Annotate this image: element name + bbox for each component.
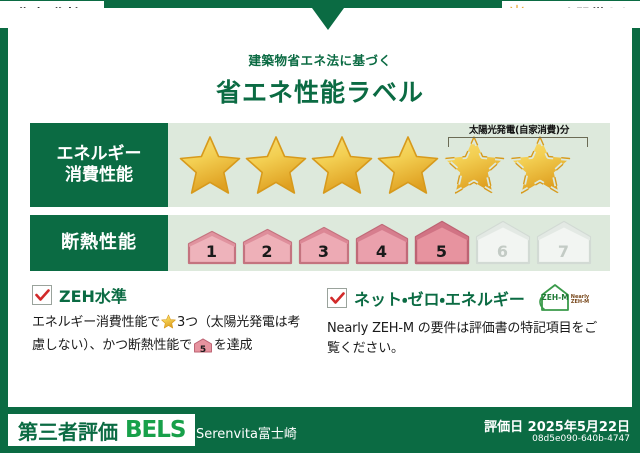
insulation-level-3: 3 xyxy=(297,226,351,266)
energy-performance-label-head: エネルギー 消費性能 xyxy=(30,123,168,207)
label-card: 建築物省エネ法に基づく 省エネ性能ラベル エネルギー 消費性能 xyxy=(8,8,632,407)
insulation-level-3-text: 3 xyxy=(297,242,351,261)
evaluation-id: 08d5e090-640b-4747 xyxy=(532,434,630,444)
bels-en-text: BELS xyxy=(125,417,185,443)
criterion-zeh-standard: ZEH水準 エネルギー消費性能で 3つ（太陽光発電は考慮しない）、かつ断熱性能で… xyxy=(32,283,313,360)
energy-label-line1: エネルギー xyxy=(57,144,142,165)
criterion-net-zero-energy: ネット・ゼロ・エネルギー ZEH-M Nearly ZEH-M Nearly Z… xyxy=(327,283,608,360)
net-zero-energy-body: Nearly ZEH-M の要件は評価書の特記項目をご覧ください。 xyxy=(327,319,608,359)
bels-jp-text: 第三者評価 xyxy=(18,416,118,445)
net-zero-energy-title: ネット・ゼロ・エネルギー xyxy=(354,286,525,310)
star-filled-3 xyxy=(310,134,374,196)
building-name: Serenvita富士崎 xyxy=(196,423,297,442)
page-title: 省エネ性能ラベル xyxy=(18,73,622,109)
zeh-standard-text-part3: を達成 xyxy=(214,338,252,353)
insulation-level-2: 2 xyxy=(241,228,294,266)
evaluation-date-label: 評価日 xyxy=(484,420,523,435)
insulation-level-2-text: 2 xyxy=(241,242,294,261)
bels-logo: 第三者評価 BELS xyxy=(8,414,195,446)
footer-band: 第三者評価 BELS Serenvita富士崎 評価日 2025年5月22日 0… xyxy=(0,407,640,453)
title-subtitle: 建築物省エネ法に基づく xyxy=(18,50,622,69)
insulation-performance-row: 断熱性能 1 xyxy=(30,215,610,271)
insulation-level-scale: 1 2 xyxy=(186,220,593,266)
net-zero-energy-checkbox xyxy=(327,288,347,308)
star-filled-2 xyxy=(244,134,308,196)
insulation-level-1-text: 1 xyxy=(186,242,238,261)
insulation-level-7: 7 xyxy=(535,220,593,266)
star-filled-4 xyxy=(376,134,440,196)
insulation-level-6-text: 6 xyxy=(474,242,532,261)
insulation-label-head: 断熱性能 xyxy=(30,215,168,271)
zeh-standard-text-part1: エネルギー消費性能で xyxy=(32,315,160,330)
energy-performance-label: 住宅(住棟) D 再エネ設備あり xyxy=(0,0,640,453)
insulation-level-6: 6 xyxy=(474,220,532,266)
insulation-level-4-text: 4 xyxy=(354,242,410,261)
inline-house-5-text: 5 xyxy=(193,344,213,358)
zeh-standard-title: ZEH水準 xyxy=(59,283,127,307)
insulation-level-7-text: 7 xyxy=(535,242,593,261)
insulation-scale-area: 1 2 xyxy=(168,215,610,271)
solar-contribution-note: 太陽光発電(自家消費)分 xyxy=(444,122,594,136)
solar-bracket xyxy=(448,137,588,147)
insulation-level-5: 5 xyxy=(413,220,471,266)
svg-text:ZEH-M: ZEH-M xyxy=(541,293,568,302)
zeh-m-badge-icon: ZEH-M Nearly ZEH-M xyxy=(536,283,594,313)
inline-house-5-icon: 5 xyxy=(193,338,213,360)
star-filled-1 xyxy=(178,134,242,196)
inline-star-icon xyxy=(161,318,176,333)
svg-text:ZEH-M: ZEH-M xyxy=(571,299,589,305)
energy-performance-row: エネルギー 消費性能 xyxy=(30,123,610,207)
energy-star-area: 太陽光発電(自家消費)分 xyxy=(168,123,610,207)
insulation-label-text: 断熱性能 xyxy=(61,232,137,255)
criteria-section: ZEH水準 エネルギー消費性能で 3つ（太陽光発電は考慮しない）、かつ断熱性能で… xyxy=(32,283,608,360)
zeh-standard-checkbox xyxy=(32,285,52,305)
zeh-standard-body: エネルギー消費性能で 3つ（太陽光発電は考慮しない）、かつ断熱性能で 5を達成 xyxy=(32,313,313,360)
evaluation-date: 評価日 2025年5月22日 xyxy=(484,416,630,435)
evaluation-date-value: 2025年5月22日 xyxy=(528,420,630,435)
insulation-level-5-text: 5 xyxy=(413,242,471,261)
energy-label-line2: 消費性能 xyxy=(65,165,133,186)
insulation-level-4: 4 xyxy=(354,223,410,266)
insulation-level-1: 1 xyxy=(186,230,238,266)
